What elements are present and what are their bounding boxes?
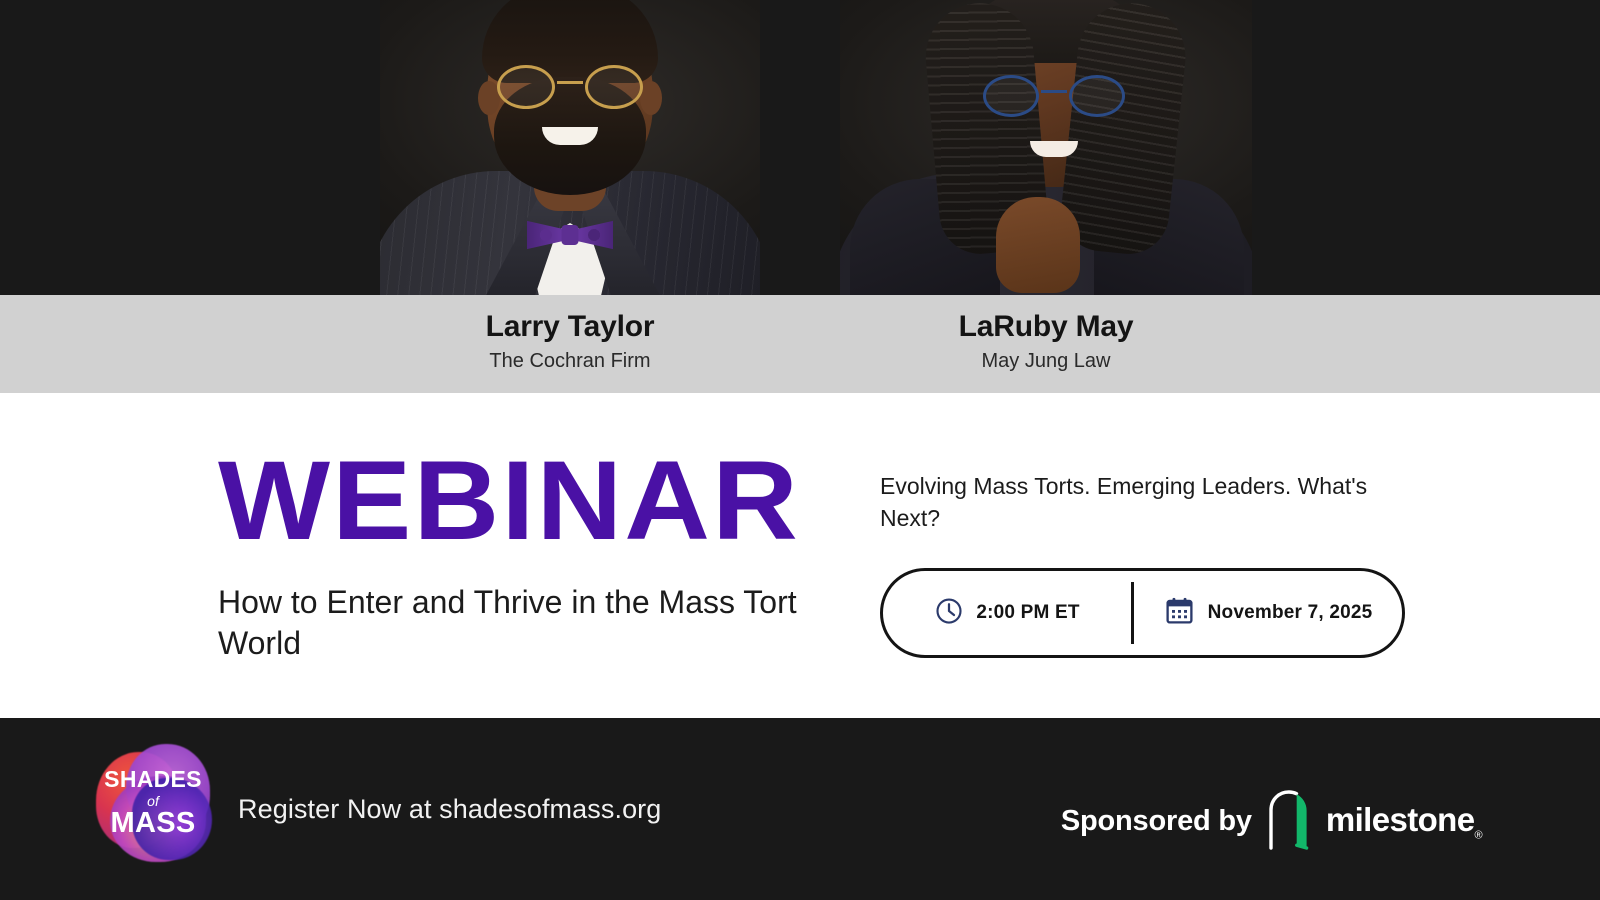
logo-wordmark: SHADES of MASS	[92, 742, 214, 864]
shades-of-mass-logo[interactable]: SHADES of MASS	[92, 742, 214, 864]
speaker-firm: May Jung Law	[840, 348, 1252, 374]
hand-on-chin	[996, 197, 1080, 293]
speaker-name-bar: Larry Taylor The Cochran Firm LaRuby May…	[0, 295, 1600, 393]
logo-line-shades: SHADES	[104, 768, 202, 791]
event-time: 2:00 PM ET	[976, 602, 1079, 624]
speaker-photo-larry-taylor	[380, 0, 760, 295]
speaker-firm: The Cochran Firm	[380, 348, 760, 374]
footer-bar: SHADES of MASS Register Now at shadesofm…	[0, 718, 1600, 900]
speaker-caption-1: Larry Taylor The Cochran Firm	[380, 309, 760, 374]
details-column: Evolving Mass Torts. Emerging Leaders. W…	[880, 471, 1420, 658]
bow-tie-knot	[562, 225, 579, 245]
eyeglasses-icon	[495, 65, 645, 109]
glasses-bridge	[557, 81, 583, 84]
milestone-brand-text: milestone	[1326, 801, 1475, 838]
logo-line-mass: MASS	[111, 809, 196, 838]
glasses-bridge	[1041, 90, 1067, 93]
register-cta-text[interactable]: Register Now at shadesofmass.org	[238, 794, 661, 825]
title-column: WEBINAR How to Enter and Thrive in the M…	[218, 449, 828, 663]
clock-icon	[934, 596, 964, 631]
speaker-photo-band	[0, 0, 1600, 295]
speaker-photo-laruby-may	[840, 0, 1252, 295]
event-date: November 7, 2025	[1208, 602, 1373, 624]
registered-trademark-icon: ®	[1474, 830, 1482, 842]
event-details-pill: 2:00 PM ET	[880, 568, 1405, 658]
event-date-group: November 7, 2025	[1134, 595, 1402, 631]
webinar-tagline: Evolving Mass Torts. Emerging Leaders. W…	[880, 471, 1420, 534]
lens-left	[983, 75, 1039, 117]
lens-right	[1069, 75, 1125, 117]
lens-right	[585, 65, 643, 109]
webinar-eyebrow: WEBINAR	[218, 449, 865, 552]
speaker-caption-2: LaRuby May May Jung Law	[840, 309, 1252, 374]
eyeglasses-icon	[981, 75, 1127, 117]
calendar-icon	[1164, 595, 1195, 631]
webinar-subtitle: How to Enter and Thrive in the Mass Tort…	[218, 582, 828, 663]
logo-line-of: of	[147, 794, 159, 808]
webinar-promo-poster: Larry Taylor The Cochran Firm LaRuby May…	[0, 0, 1600, 900]
event-time-group: 2:00 PM ET	[883, 596, 1131, 631]
lens-left	[497, 65, 555, 109]
speaker-name: Larry Taylor	[380, 309, 760, 346]
milestone-arch-icon	[1266, 788, 1312, 855]
sponsored-by-label: Sponsored by	[1061, 805, 1252, 838]
sponsor-group: Sponsored by milestone®	[1061, 788, 1482, 855]
milestone-wordmark: milestone®	[1326, 801, 1482, 842]
main-content-section: WEBINAR How to Enter and Thrive in the M…	[0, 393, 1600, 718]
speaker-name: LaRuby May	[840, 309, 1252, 346]
